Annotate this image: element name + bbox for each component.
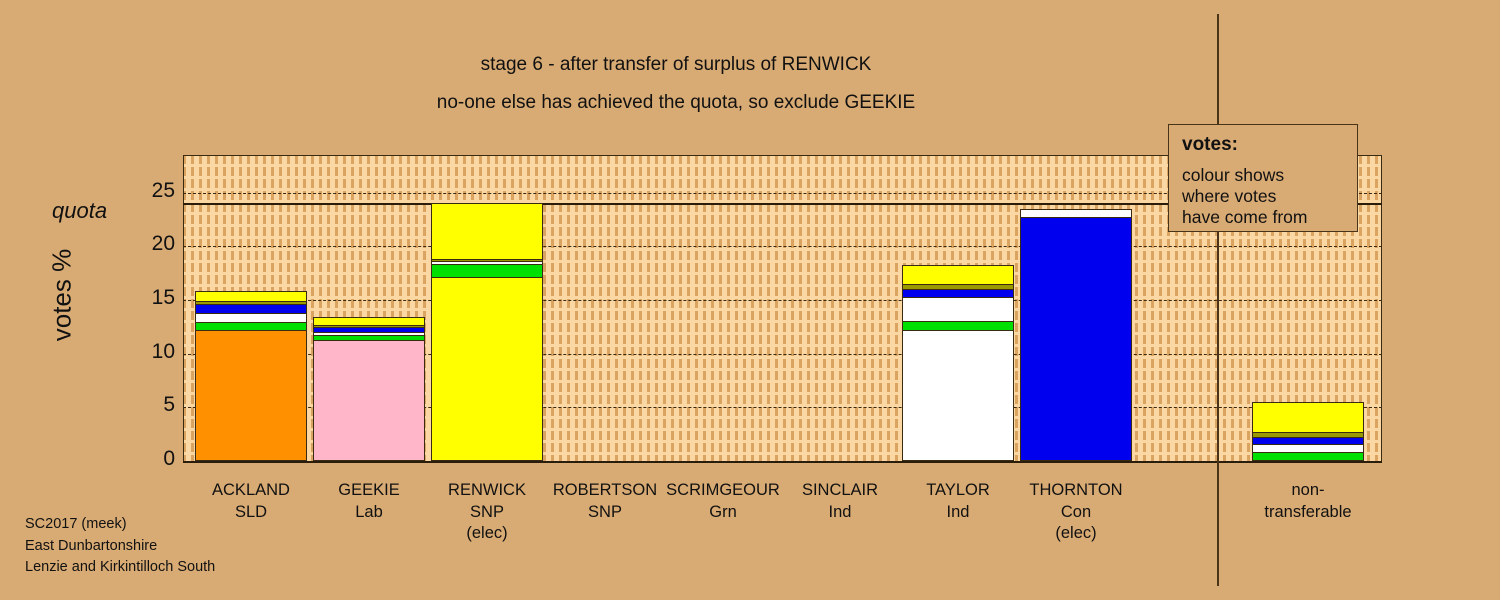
axis-baseline (183, 461, 1382, 463)
footer-note: SC2017 (meek) East Dunbartonshire Lenzie… (25, 514, 215, 579)
bar-segment (903, 266, 1013, 285)
bar-segment (1253, 445, 1363, 453)
y-tick-0: 0 (55, 447, 175, 471)
x-label-thornton: THORNTON Con (elec) (986, 480, 1166, 545)
quota-label: quota (52, 198, 107, 224)
legend-body: colour shows where votes have come from (1182, 165, 1357, 228)
bar-segment (432, 204, 542, 259)
bar-geekie[interactable] (313, 317, 425, 461)
bar-segment (903, 290, 1013, 299)
bar-renwick[interactable] (431, 203, 543, 461)
y-tick-5: 5 (55, 393, 175, 417)
bar-segment (432, 278, 542, 460)
chart-title: stage 6 - after transfer of surplus of R… (0, 54, 1352, 76)
bar-segment (903, 331, 1013, 460)
bar-segment (1021, 210, 1131, 219)
gridline-20 (183, 246, 1382, 247)
bar-segment (903, 298, 1013, 322)
bar-taylor[interactable] (902, 265, 1014, 461)
bar-ackland[interactable] (195, 291, 307, 461)
legend-box: votes: colour shows where votes have com… (1168, 124, 1358, 232)
y-axis-label: votes % (47, 249, 78, 342)
legend-title: votes: (1182, 134, 1357, 156)
bar-segment (196, 323, 306, 331)
chart-canvas: stage 6 - after transfer of surplus of R… (0, 0, 1500, 600)
bar-segment (196, 292, 306, 303)
x-label-non-: non- transferable (1218, 480, 1398, 523)
bar-segment (1253, 438, 1363, 445)
bar-segment (314, 341, 424, 460)
gridline-15 (183, 300, 1382, 301)
bar-segment (1253, 403, 1363, 433)
bar-segment (196, 305, 306, 314)
chart-subtitle: no-one else has achieved the quota, so e… (0, 92, 1352, 114)
bar-segment (196, 314, 306, 323)
bar-thornton[interactable] (1020, 209, 1132, 461)
bar-segment (903, 322, 1013, 331)
bar-segment (1021, 218, 1131, 460)
bar-segment (196, 331, 306, 460)
bar-segment (1253, 453, 1363, 460)
bar-non-transferable[interactable] (1252, 402, 1364, 461)
bar-segment (314, 318, 424, 325)
bar-segment (432, 265, 542, 278)
y-tick-10: 10 (55, 340, 175, 364)
